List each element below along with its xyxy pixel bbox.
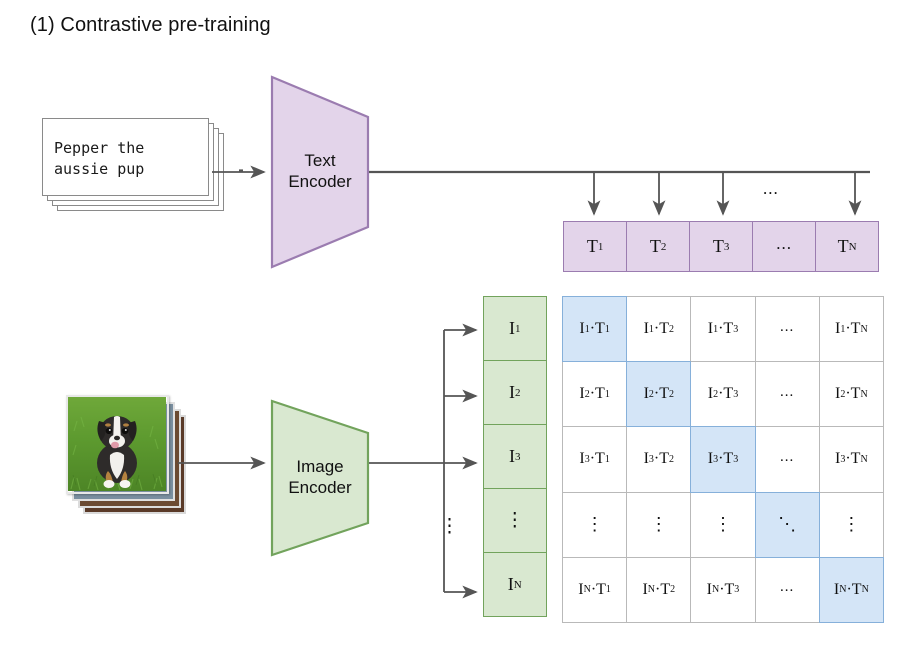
image-embedding-cell-1: I1 [483, 296, 547, 361]
text-encoder-block[interactable]: Text Encoder [270, 75, 370, 269]
puppy-photo-illustration [68, 397, 166, 491]
similarity-cell-r5-c1: IN·T1 [562, 557, 627, 623]
similarity-cell-r1-c2: I1·T2 [626, 296, 691, 362]
text-bus-ellipsis: ... [763, 179, 779, 199]
similarity-cell-r2-c3: I2·T3 [690, 361, 755, 427]
image-embedding-cell-3: I3 [483, 424, 547, 489]
text-encoder-label-line1: Text [270, 150, 370, 171]
image-embedding-column: I1I2I3⋮IN [483, 296, 547, 617]
similarity-cell-r3-c2: I3·T2 [626, 426, 691, 492]
image-embedding-cell-5: IN [483, 552, 547, 617]
similarity-cell-r3-c4: ... [755, 426, 820, 492]
image-encoder-block[interactable]: Image Encoder [270, 399, 370, 557]
image-embedding-cell-4: ⋮ [483, 488, 547, 553]
similarity-cell-r1-c5: I1·TN [819, 296, 884, 362]
similarity-cell-r4-c2: ⋮ [626, 492, 691, 558]
wire-text-encoder-bus [369, 172, 870, 214]
caption-line-1: Pepper the [54, 138, 200, 159]
similarity-cell-r5-c4: ... [755, 557, 820, 623]
text-embedding-cell-1: T1 [563, 221, 627, 272]
similarity-cell-r2-c4: ... [755, 361, 820, 427]
similarity-cell-r4-c1: ⋮ [562, 492, 627, 558]
caption-line-2: aussie pup [54, 159, 200, 180]
similarity-cell-r4-c5: ⋮ [819, 492, 884, 558]
similarity-cell-r3-c5: I3·TN [819, 426, 884, 492]
similarity-cell-r4-c3: ⋮ [690, 492, 755, 558]
image-encoder-label-line2: Encoder [270, 477, 370, 498]
wire-image-encoder-bus [369, 330, 476, 592]
image-encoder-label: Image Encoder [270, 456, 370, 498]
text-embedding-cell-2: T2 [626, 221, 690, 272]
text-embedding-cell-5: TN [815, 221, 879, 272]
similarity-cell-r5-c3: IN·T3 [690, 557, 755, 623]
similarity-matrix: I1·T1I1·T2I1·T3...I1·TNI2·T1I2·T2I2·T3..… [563, 296, 884, 622]
page-title: (1) Contrastive pre-training [30, 14, 271, 37]
text-embedding-cell-3: T3 [689, 221, 753, 272]
similarity-cell-r1-c3: I1·T3 [690, 296, 755, 362]
text-embedding-row: T1T2T3...TN [563, 221, 879, 272]
similarity-cell-r3-c1: I3·T1 [562, 426, 627, 492]
text-encoder-label: Text Encoder [270, 150, 370, 192]
similarity-cell-r5-c5: IN·TN [819, 557, 884, 623]
similarity-cell-r2-c2: I2·T2 [626, 361, 691, 427]
photo-card-front [66, 395, 169, 494]
text-embedding-cell-4: ... [752, 221, 816, 272]
similarity-cell-r4-c4: ⋱ [755, 492, 820, 558]
text-encoder-label-line2: Encoder [270, 171, 370, 192]
image-encoder-label-line1: Image [270, 456, 370, 477]
similarity-cell-r2-c5: I2·TN [819, 361, 884, 427]
similarity-cell-r3-c3: I3·T3 [690, 426, 755, 492]
similarity-cell-r1-c1: I1·T1 [562, 296, 627, 362]
image-bus-ellipsis: ⋮ [440, 515, 459, 538]
similarity-cell-r1-c4: ... [755, 296, 820, 362]
diagram-canvas: (1) Contrastive pre-training Pepper the … [0, 0, 906, 654]
caption-card-text: Pepper the aussie pup [54, 138, 200, 180]
similarity-cell-r5-c2: IN·T2 [626, 557, 691, 623]
image-embedding-cell-2: I2 [483, 360, 547, 425]
similarity-cell-r2-c1: I2·T1 [562, 361, 627, 427]
